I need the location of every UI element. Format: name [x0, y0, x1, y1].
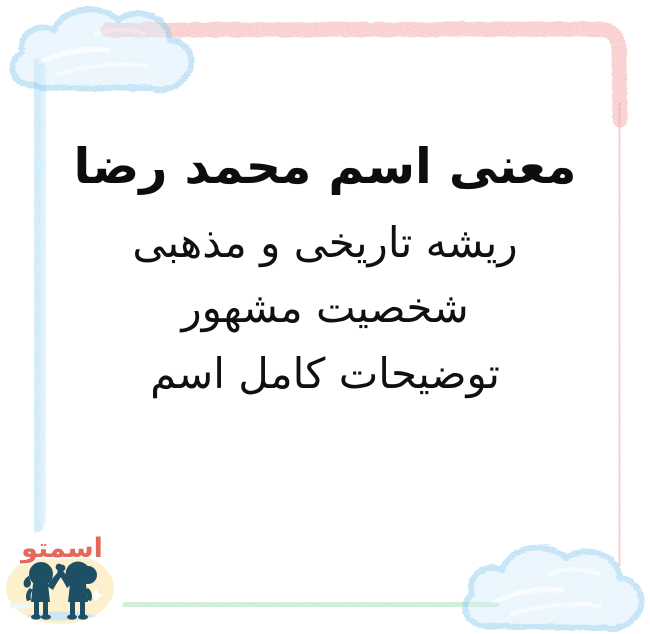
poster-text-block: معنی اسم محمد رضا ریشه تاریخی و مذهبی شخ…: [40, 135, 610, 410]
cloud-bottom-right-icon: [465, 548, 641, 629]
feature-line-3: توضیحات کامل اسم: [40, 344, 610, 404]
border-bottom-stroke: [130, 603, 492, 606]
feature-line-1: ریشه تاریخی و مذهبی: [40, 213, 610, 273]
page-title: معنی اسم محمد رضا: [40, 135, 610, 199]
cloud-top-left-icon: [12, 9, 191, 89]
poster-canvas: معنی اسم محمد رضا ریشه تاریخی و مذهبی شخ…: [0, 0, 650, 634]
brand-logo[interactable]: اسمتو: [4, 530, 120, 626]
border-top-stroke: [108, 29, 620, 120]
feature-line-2: شخصیت مشهور: [40, 278, 610, 338]
logo-wordmark: اسمتو: [19, 533, 103, 564]
border-right-stroke: [619, 110, 620, 560]
